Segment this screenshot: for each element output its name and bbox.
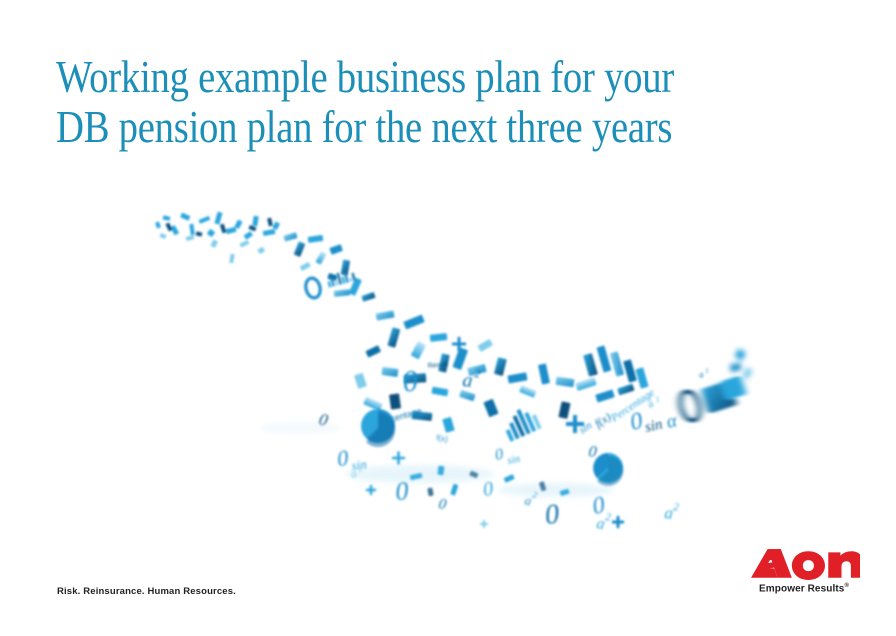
svg-text:sin: sin xyxy=(506,453,521,467)
histogram-glyph xyxy=(500,404,542,442)
svg-text:a: a xyxy=(461,369,473,392)
page-title: Working example business plan for your D… xyxy=(56,52,846,152)
aon-swoosh-graphic: 0 a 2 0 sin 0 0 sin Percentage Result f(… xyxy=(0,178,896,558)
aon-logo: Empower Results® xyxy=(748,548,860,594)
registered-mark-icon: ® xyxy=(844,583,849,589)
svg-text:2: 2 xyxy=(654,395,661,404)
svg-text:sin: sin xyxy=(577,419,595,436)
svg-text:α: α xyxy=(665,410,680,433)
title-line-1: Working example business plan for your xyxy=(56,52,735,102)
svg-text:sin: sin xyxy=(644,417,664,436)
footer-tagline: Risk. Reinsurance. Human Resources. xyxy=(57,586,236,597)
swoosh-segment-center: 0 a 2 0 sin 0 0 sin Percentage Result f(… xyxy=(317,310,584,473)
aon-wordmark-icon xyxy=(748,548,860,580)
bar-chart-glyph xyxy=(326,269,356,288)
logo-tagline: Empower Results® xyxy=(748,583,860,594)
presentation-slide: Working example business plan for your D… xyxy=(0,0,896,636)
title-line-2: DB pension plan for the next three years xyxy=(56,102,735,152)
pie-chart-glyph-right xyxy=(593,453,623,486)
svg-text:a: a xyxy=(646,399,656,411)
svg-text:0: 0 xyxy=(437,496,448,513)
swoosh-segment-left xyxy=(155,212,280,264)
svg-text:0: 0 xyxy=(482,478,495,501)
svg-text:f(x): f(x) xyxy=(436,433,449,444)
svg-text:2: 2 xyxy=(673,501,680,514)
svg-text:0: 0 xyxy=(494,446,505,464)
swoosh-segment-midleft xyxy=(283,232,375,302)
svg-text:0: 0 xyxy=(543,499,560,531)
pie-chart-glyph xyxy=(361,409,395,447)
svg-text:2: 2 xyxy=(474,366,481,381)
svg-text:2: 2 xyxy=(705,368,710,375)
logo-tagline-text: Empower Results xyxy=(759,583,844,594)
svg-text:0: 0 xyxy=(628,408,645,436)
svg-text:0: 0 xyxy=(400,364,419,399)
swoosh-svg: 0 a 2 0 sin 0 0 sin Percentage Result f(… xyxy=(0,178,896,558)
svg-text:0: 0 xyxy=(591,492,607,520)
svg-text:0: 0 xyxy=(587,443,597,461)
swoosh-segment-tail: a 2 xyxy=(677,349,753,423)
